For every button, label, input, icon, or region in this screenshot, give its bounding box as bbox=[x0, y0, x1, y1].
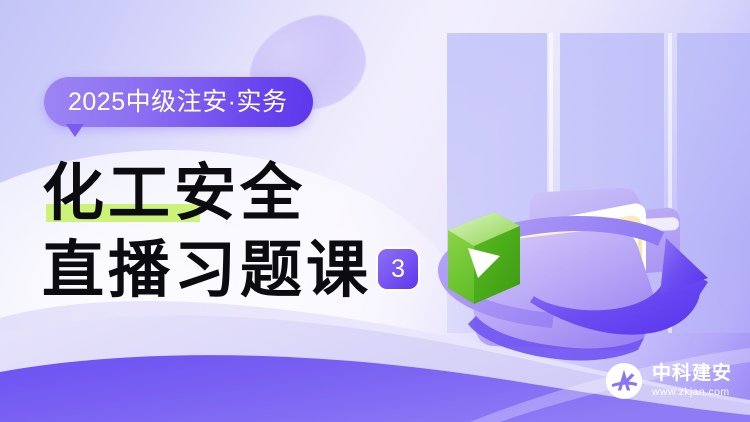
zk-circle-mark-icon bbox=[605, 362, 643, 400]
folder-illustration bbox=[408, 88, 738, 368]
brand-url: www.zkjan.com bbox=[652, 387, 732, 398]
episode-number-badge: 3 bbox=[378, 249, 418, 289]
headline-line-1: 化工安全 bbox=[42, 158, 306, 228]
brand-name: 中科建安 bbox=[652, 364, 732, 383]
course-category-label: 2025中级注安·实务 bbox=[68, 90, 287, 115]
pill-tail-pointer bbox=[66, 124, 84, 137]
course-category-pill: 2025中级注安·实务 bbox=[44, 77, 313, 127]
headline-line-2-row: 直播习题课 3 bbox=[42, 230, 462, 310]
brand-logo[interactable]: 中科建安 www.zkjan.com bbox=[605, 362, 732, 400]
course-promo-banner: 2025中级注安·实务 化工安全 直播习题课 3 bbox=[0, 0, 750, 422]
headline-line-1-row: 化工安全 bbox=[42, 146, 462, 228]
brand-logo-text: 中科建安 www.zkjan.com bbox=[652, 364, 732, 398]
headline-line-2: 直播习题课 bbox=[42, 235, 372, 305]
headline-block: 化工安全 直播习题课 3 bbox=[42, 146, 462, 310]
